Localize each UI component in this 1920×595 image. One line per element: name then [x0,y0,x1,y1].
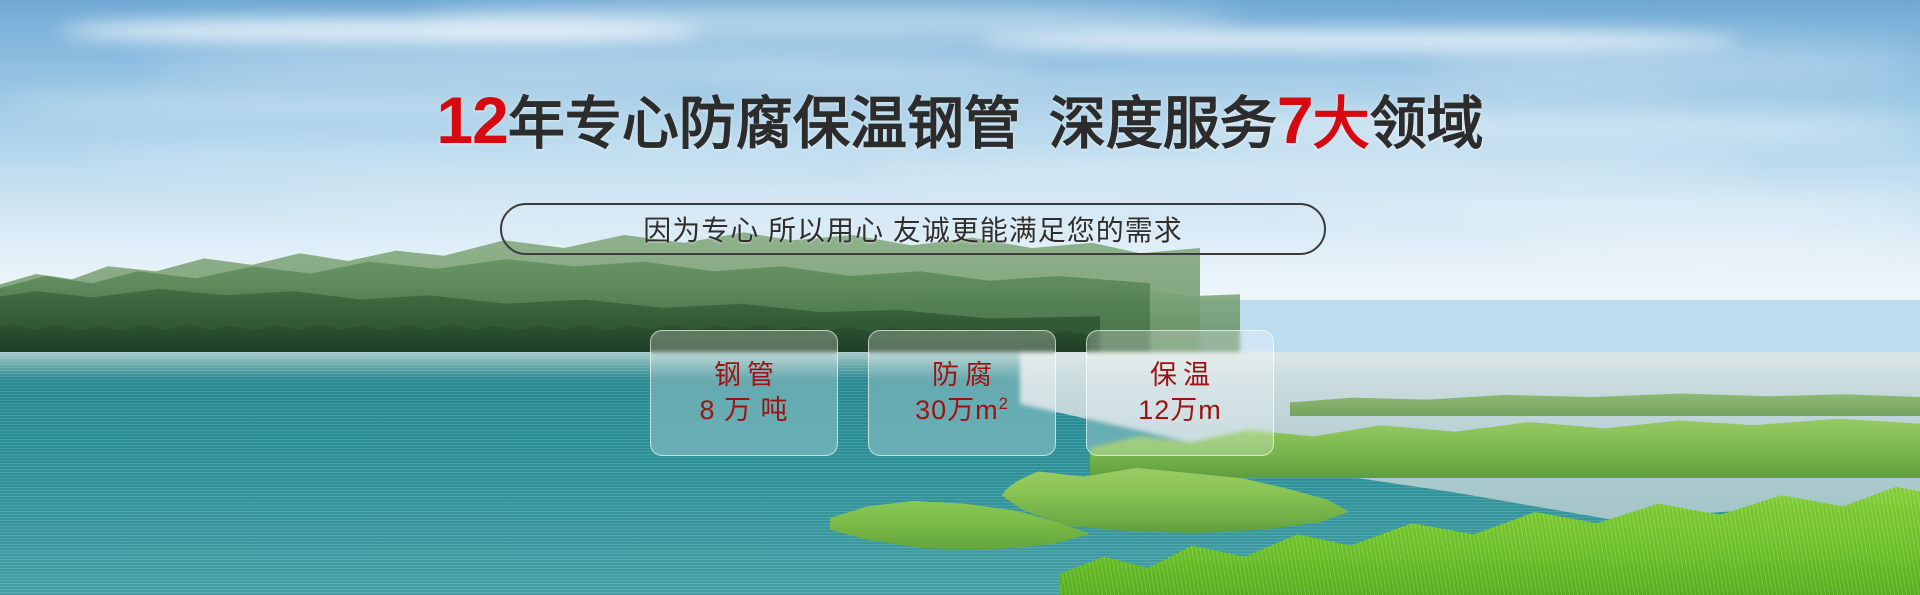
stat-card-group: 钢管 8 万 吨 防腐 30万m2 保温 12万m [650,330,1274,456]
stat-card-label: 防腐 [926,362,998,389]
stat-card-label: 钢管 [708,362,780,389]
headline-fields-number: 7 [1277,83,1313,157]
stat-card-value: 12万m [1138,397,1222,424]
stat-value-superscript: 2 [999,394,1009,413]
stat-card-anticorrosion[interactable]: 防腐 30万m2 [868,330,1056,456]
stat-card-steel-pipe[interactable]: 钢管 8 万 吨 [650,330,838,456]
headline-accent-char: 大 [1313,92,1370,156]
stat-value-main: 12万m [1138,395,1222,425]
stat-card-insulation[interactable]: 保温 12万m [1086,330,1274,456]
stat-card-value: 30万m2 [915,397,1009,424]
hero-banner: 12年专心防腐保温钢管深度服务7大领域 因为专心 所以用心 友诚更能满足您的需求… [0,0,1920,595]
headline: 12年专心防腐保温钢管深度服务7大领域 [0,86,1920,155]
stat-card-label: 保温 [1144,362,1216,389]
stat-value-main: 30万m [915,395,999,425]
subtitle-text: 因为专心 所以用心 友诚更能满足您的需求 [643,209,1183,249]
stat-card-value: 8 万 吨 [699,397,788,424]
headline-text-primary: 年专心防腐保温钢管 [508,92,1021,156]
headline-text-secondary: 深度服务 [1049,92,1277,156]
headline-text-tail: 领域 [1370,92,1484,156]
subtitle-pill: 因为专心 所以用心 友诚更能满足您的需求 [500,203,1326,255]
headline-years-number: 12 [436,83,507,157]
stat-value-main: 8 万 吨 [699,395,788,425]
